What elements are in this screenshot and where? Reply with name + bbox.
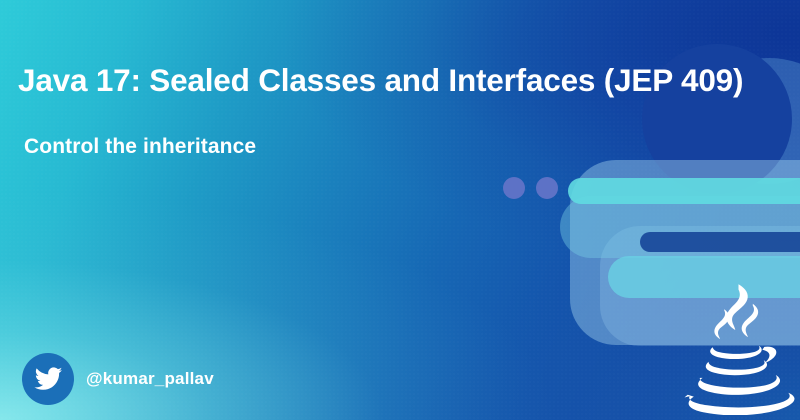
decorative-dot-2 xyxy=(536,177,558,199)
twitter-bird-icon xyxy=(33,364,63,394)
social-attribution[interactable]: @kumar_pallav xyxy=(22,353,214,405)
page-title: Java 17: Sealed Classes and Interfaces (… xyxy=(18,62,800,98)
java-logo xyxy=(668,283,796,415)
page-subtitle: Control the inheritance xyxy=(24,134,256,159)
social-card-banner: Java 17: Sealed Classes and Interfaces (… xyxy=(0,0,800,420)
decorative-stripe-dark xyxy=(640,232,800,252)
decorative-dot-1 xyxy=(503,177,525,199)
decorative-stripe-upper xyxy=(568,178,800,204)
twitter-icon-badge[interactable] xyxy=(22,353,74,405)
java-coffee-cup-logo-icon xyxy=(668,283,796,415)
twitter-handle: @kumar_pallav xyxy=(86,369,214,389)
